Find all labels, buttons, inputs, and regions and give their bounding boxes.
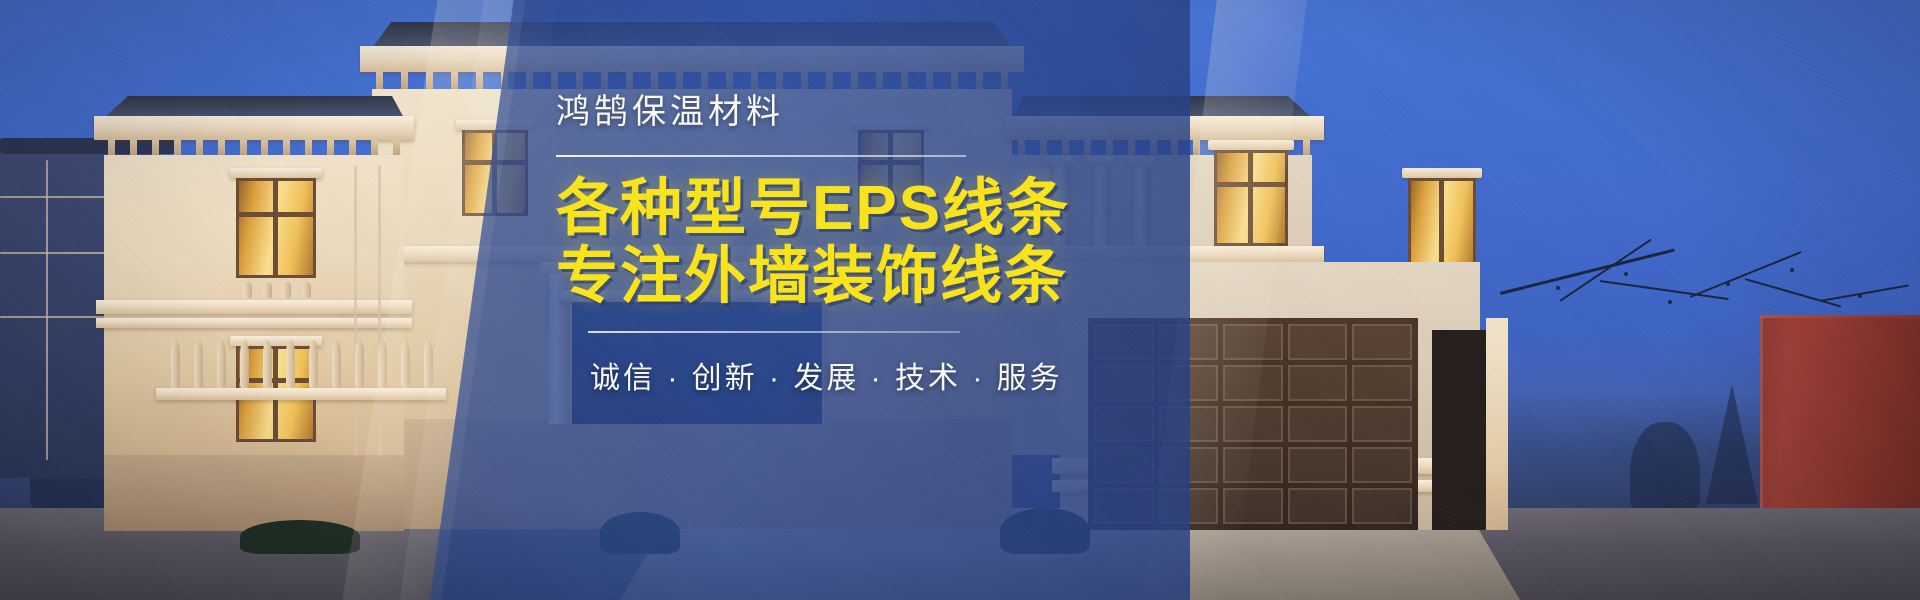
headline-line-2: 专注外墙装饰线条	[556, 243, 1176, 311]
left-wing-base	[104, 455, 404, 531]
left-wing-balustrade	[238, 282, 316, 298]
divider-upper	[556, 155, 966, 157]
side-doorway	[1432, 330, 1486, 530]
garage-pilaster	[1486, 318, 1508, 530]
red-boundary-wall	[1760, 318, 1920, 508]
left-wing-cornice	[94, 116, 414, 140]
headline-line-1: 各种型号EPS线条	[556, 175, 1176, 243]
terrace-balustrade	[164, 340, 440, 388]
slogan: 诚信 · 创新 · 发展 · 技术 · 服务	[590, 353, 1176, 397]
left-wing-dentils	[108, 140, 400, 155]
banner-copy: 鸿鹄保温材料 各种型号EPS线条 专注外墙装饰线条 诚信 · 创新 · 发展 ·…	[556, 92, 1176, 397]
scaffold-pipe	[354, 166, 357, 456]
left-wing-roof	[104, 96, 404, 118]
brand-name: 鸿鹄保温材料	[556, 92, 1176, 133]
terrace-coping	[156, 388, 446, 400]
promotional-banner: 鸿鹄保温材料 各种型号EPS线条 专注外墙装饰线条 诚信 · 创新 · 发展 ·…	[0, 0, 1920, 600]
scaffold-pipe	[378, 166, 381, 456]
divider-lower	[588, 331, 960, 333]
left-wing-belt2	[96, 318, 412, 328]
left-wing-belt	[96, 300, 412, 314]
